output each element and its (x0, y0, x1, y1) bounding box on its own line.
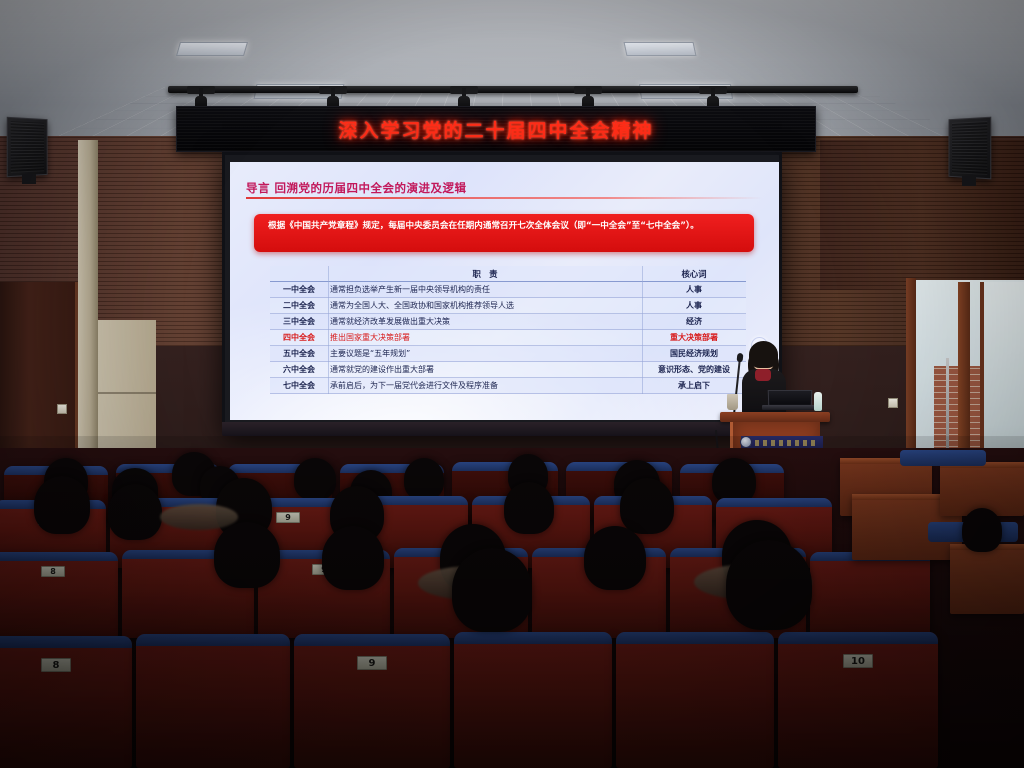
seat[interactable]: 10 (778, 632, 938, 768)
table-row: 三中全会 通常就经济改革发展做出重大决策 经济 (270, 314, 746, 330)
cell-duty: 通常就党的建设作出重大部署 (328, 362, 642, 378)
seat[interactable]: 8 (0, 552, 118, 638)
presenter-hair (749, 341, 778, 368)
lecture-hall-photo: 深入学习党的二十届四中全会精神 导言 回溯党的历届四中全会的演进及逻辑 根据《中… (0, 0, 1024, 768)
seat[interactable] (616, 632, 774, 768)
audience-head (726, 540, 812, 630)
audience-head (584, 526, 646, 590)
cell-session: 三中全会 (270, 314, 328, 330)
fur-collar (160, 504, 238, 530)
cell-keyword: 承上启下 (642, 378, 746, 394)
plenum-sessions-table: 职 责 核心词 一中全会 通常担负选举产生新一届中央领导机构的责任 人事 二中全… (270, 266, 746, 394)
audience-head (620, 478, 674, 534)
wall-speaker-icon (949, 117, 992, 180)
table-header-row: 职 责 核心词 (270, 266, 746, 282)
col-header-session (270, 266, 328, 282)
seat-number: 9 (276, 512, 300, 523)
light-switch[interactable] (888, 398, 898, 408)
cell-duty: 通常为全国人大、全国政协和国家机构推荐领导人选 (328, 298, 642, 314)
cell-keyword: 人事 (642, 282, 746, 298)
seat-cushion[interactable] (900, 450, 986, 466)
table-row: 二中全会 通常为全国人大、全国政协和国家机构推荐领导人选 人事 (270, 298, 746, 314)
led-banner: 深入学习党的二十届四中全会精神 (176, 106, 816, 152)
presenter-scarf (755, 369, 771, 381)
cell-session: 一中全会 (270, 282, 328, 298)
col-header-duty: 职 责 (328, 266, 642, 282)
screen-bottom-bar (222, 422, 782, 436)
table-body: 一中全会 通常担负选举产生新一届中央领导机构的责任 人事 二中全会 通常为全国人… (270, 282, 746, 394)
cup (727, 394, 738, 410)
light-track (168, 86, 858, 93)
table-row: 七中全会 承前启后，为下一届党代会进行文件及程序准备 承上启下 (270, 378, 746, 394)
cell-session: 二中全会 (270, 298, 328, 314)
seat-number: 9 (357, 656, 387, 670)
audience-head (34, 476, 90, 534)
water-bottle (814, 392, 822, 411)
cell-keyword: 国民经济规划 (642, 346, 746, 362)
speaker-bracket (22, 174, 36, 184)
cell-keyword: 经济 (642, 314, 746, 330)
projection-screen: 导言 回溯党的历届四中全会的演进及逻辑 根据《中国共产党章程》规定，每届中央委员… (222, 152, 782, 434)
presentation-slide: 导言 回溯党的历届四中全会的演进及逻辑 根据《中国共产党章程》规定，每届中央委员… (230, 162, 780, 420)
title-underline (246, 197, 762, 199)
podium-top (720, 412, 830, 422)
cell-session: 六中全会 (270, 362, 328, 378)
table-row: 六中全会 通常就党的建设作出重大部署 意识形态、党的建设 (270, 362, 746, 378)
speaker-bracket (962, 176, 976, 186)
audience-head (504, 482, 554, 534)
slide-callout-text: 根据《中国共产党章程》规定，每届中央委员会在任期内通常召开七次全体会议（即“一中… (268, 219, 740, 233)
audience-head (962, 508, 1002, 552)
audience-seating: 8 9 10 8 9 (0, 448, 1024, 768)
recessed-light (176, 42, 248, 56)
podium-badge-icon (740, 436, 752, 448)
audience-head (108, 484, 162, 540)
audience-head (322, 526, 384, 590)
left-pillar (78, 140, 98, 485)
laptop-icon (762, 390, 818, 410)
table-row-highlighted: 四中全会 推出国家重大决策部署 重大决策部署 (270, 330, 746, 346)
audience-head (294, 458, 336, 500)
seat[interactable]: 9 (294, 634, 450, 768)
slide-callout-box: 根据《中国共产党章程》规定，每届中央委员会在任期内通常召开七次全体会议（即“一中… (254, 214, 754, 252)
right-wood-wall (820, 140, 1024, 290)
col-header-keyword: 核心词 (642, 266, 746, 282)
seat-number: 8 (41, 566, 65, 577)
corridor-railing (946, 358, 949, 462)
cell-session: 四中全会 (270, 330, 328, 346)
cell-duty: 承前启后，为下一届党代会进行文件及程序准备 (328, 378, 642, 394)
light-switch[interactable] (57, 404, 67, 414)
audience-head (214, 522, 280, 588)
cell-session: 七中全会 (270, 378, 328, 394)
cell-duty: 推出国家重大决策部署 (328, 330, 642, 346)
seat[interactable] (136, 634, 290, 768)
slide-title: 导言 回溯党的历届四中全会的演进及逻辑 (246, 180, 467, 196)
cell-duty: 主要议题是“五年规划” (328, 346, 642, 362)
cell-session: 五中全会 (270, 346, 328, 362)
table-row: 一中全会 通常担负选举产生新一届中央领导机构的责任 人事 (270, 282, 746, 298)
cell-duty: 通常担负选举产生新一届中央领导机构的责任 (328, 282, 642, 298)
audience-head (404, 458, 444, 500)
seat[interactable] (454, 632, 612, 768)
cell-keyword: 重大决策部署 (642, 330, 746, 346)
seat-number: 10 (843, 654, 873, 668)
recessed-light (624, 42, 697, 56)
cell-keyword: 人事 (642, 298, 746, 314)
cell-keyword: 意识形态、党的建设 (642, 362, 746, 378)
table-row: 五中全会 主要议题是“五年规划” 国民经济规划 (270, 346, 746, 362)
side-desk[interactable] (950, 544, 1024, 614)
seat[interactable] (810, 552, 930, 638)
audience-head (452, 548, 532, 632)
wall-speaker-icon (7, 117, 48, 177)
seat-number: 8 (41, 658, 71, 672)
cell-duty: 通常就经济改革发展做出重大决策 (328, 314, 642, 330)
led-banner-text: 深入学习党的二十届四中全会精神 (338, 116, 653, 143)
seat[interactable]: 8 (0, 636, 132, 768)
